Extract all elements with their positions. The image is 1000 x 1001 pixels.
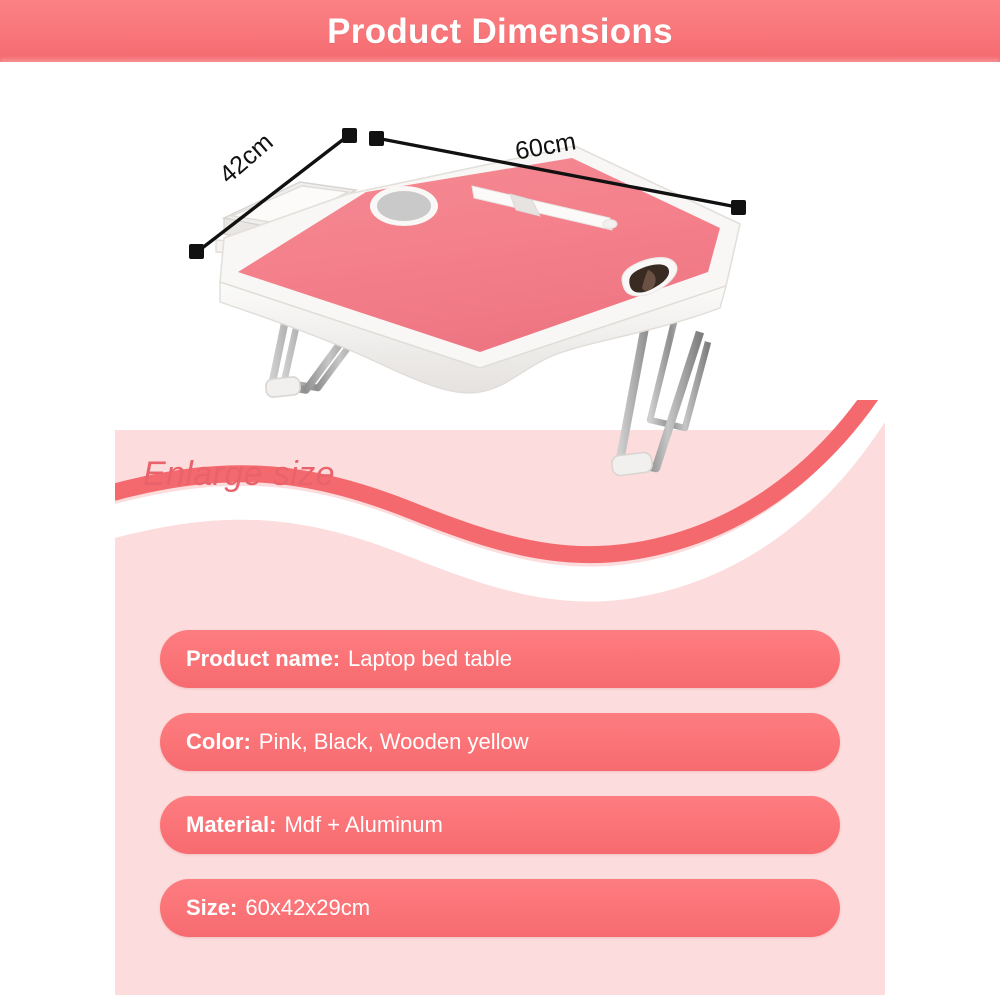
spec-value: 60x42x29cm xyxy=(245,895,370,921)
spec-key: Color: xyxy=(186,729,251,755)
spec-value: Mdf + Aluminum xyxy=(284,812,442,838)
spec-key: Material: xyxy=(186,812,276,838)
spec-value: Pink, Black, Wooden yellow xyxy=(259,729,529,755)
spec-row-material: Material: Mdf + Aluminum xyxy=(160,796,840,854)
foot-cap-right xyxy=(611,452,653,477)
spec-key: Product name: xyxy=(186,646,340,672)
spec-row-product-name: Product name: Laptop bed table xyxy=(160,630,840,688)
cup-holder-recess xyxy=(377,191,431,221)
spec-row-color: Color: Pink, Black, Wooden yellow xyxy=(160,713,840,771)
product-image-laptop-bed-table xyxy=(180,120,760,510)
specification-list: Product name: Laptop bed table Color: Pi… xyxy=(160,630,840,962)
spec-value: Laptop bed table xyxy=(348,646,512,672)
spec-row-size: Size: 60x42x29cm xyxy=(160,879,840,937)
header-banner: Product Dimensions xyxy=(0,0,1000,62)
product-infographic: Product Dimensions Enlarge size xyxy=(0,0,1000,1001)
spec-key: Size: xyxy=(186,895,237,921)
page-title: Product Dimensions xyxy=(327,14,673,49)
foot-cap-left xyxy=(265,376,301,397)
